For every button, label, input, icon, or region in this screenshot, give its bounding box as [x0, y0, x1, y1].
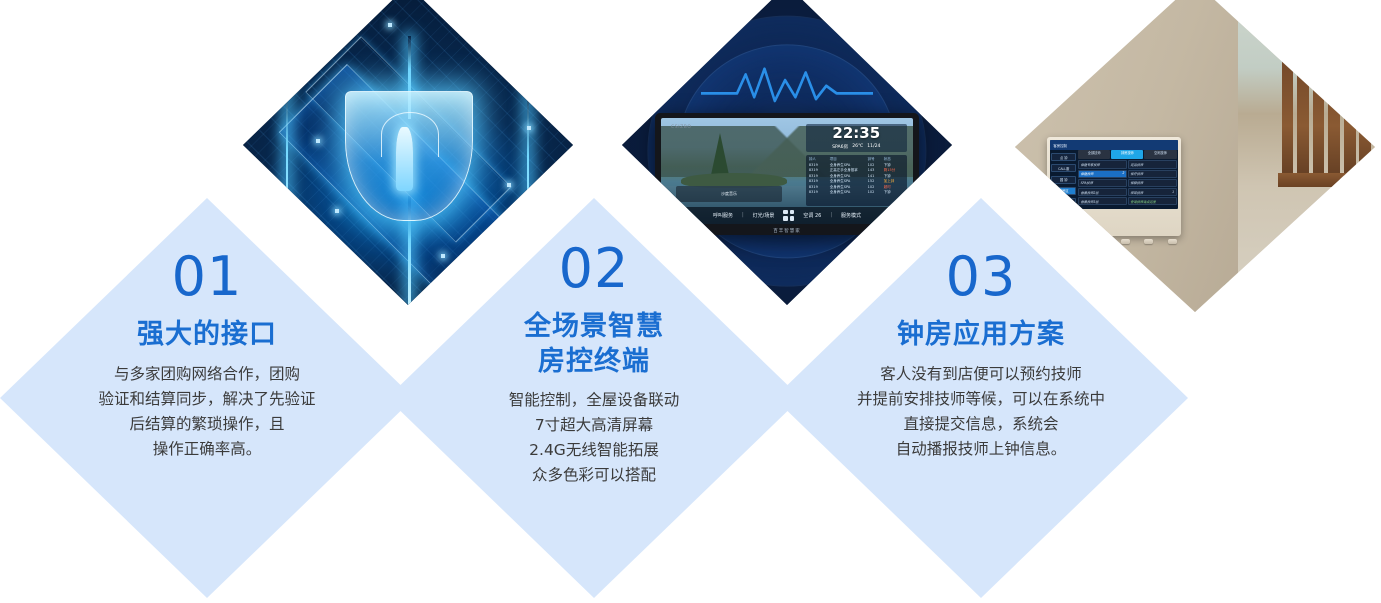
table-row[interactable]: 8319 全身养生SPA 102 下钟 — [809, 190, 904, 195]
clock-meta: SPA6房 26℃ 11/24 — [832, 144, 880, 150]
row-status: 下钟 — [884, 190, 904, 195]
panel-button[interactable] — [1051, 239, 1060, 244]
room-scene: 客房控制 点 钟 CALL服 圆 钟 钟房区 点 钟 全部技师 钟房技师 空闲技… — [1015, 0, 1375, 312]
clock-widget: 22:35 SPA6房 26℃ 11/24 — [806, 124, 907, 151]
panel-tab-active[interactable]: 钟房技师 — [1111, 150, 1143, 159]
shield-scene — [243, 0, 573, 305]
tablet-screen[interactable]: CSIZBO 22:35 SPA6房 26℃ 11/24 钟人 项目 — [661, 118, 913, 224]
panel-row[interactable]: 足浴技师 — [1128, 160, 1177, 168]
panel-row-label: 修疗技师 — [1130, 171, 1143, 176]
service-list-header: 钟人 项目 钟号 状态 — [809, 157, 904, 162]
feature-card-01[interactable]: 01 强大的接口 与多家团购网络合作，团购 验证和结算同步，解决了先验证 后结算… — [0, 198, 414, 598]
card-01-number: 01 — [46, 250, 368, 304]
panel-row[interactable]: 香熏技师3层 — [1078, 197, 1127, 205]
panel-row[interactable]: 采耳技师1 — [1128, 188, 1177, 196]
panel-hardware-buttons[interactable] — [1051, 239, 1176, 244]
panel-tab[interactable]: 全部技师 — [1078, 150, 1110, 159]
card-03-desc-line-3: 直接提交信息，系统会 — [820, 412, 1142, 437]
card-02-desc-line-3: 2.4G无线智能拓展 — [433, 438, 755, 463]
card-01-image-shield-hologram — [243, 0, 573, 305]
wall-control-panel[interactable]: 客房控制 点 钟 CALL服 圆 钟 钟房区 点 钟 全部技师 钟房技师 空闲技… — [1047, 137, 1180, 236]
card-02-desc-line-1: 智能控制，全屋设备联动 — [433, 388, 755, 413]
panel-key[interactable]: 点 钟 — [1051, 153, 1076, 161]
wood-post — [1344, 35, 1356, 187]
card-01-desc-line-4: 操作正确率高。 — [46, 437, 368, 462]
row-person: 8319 — [809, 190, 830, 195]
card-01-content: 01 强大的接口 与多家团购网络合作，团购 验证和结算同步，解决了先验证 后结算… — [0, 250, 414, 462]
panel-button[interactable] — [1121, 239, 1130, 244]
panel-row-query[interactable]: 查询技师请点这里 — [1128, 197, 1177, 205]
card-01-title-line-1: 强大的接口 — [46, 318, 368, 353]
panel-row-label: 香熏技师3层 — [1081, 199, 1099, 204]
panel-button[interactable] — [1168, 239, 1177, 244]
media-label: 沙度音乐 — [721, 191, 737, 197]
card-03-image-room-panel-photo: 客房控制 点 钟 CALL服 圆 钟 钟房区 点 钟 全部技师 钟房技师 空闲技… — [1015, 0, 1375, 312]
panel-tab[interactable]: 空闲技师 — [1144, 150, 1176, 159]
card-03-number: 03 — [820, 250, 1142, 304]
panel-row[interactable]: SPA技师 — [1078, 179, 1127, 187]
card-02-content: 02 全场景智慧 房控终端 智能控制，全屋设备联动 7寸超大高清屏幕 2.4G无… — [387, 242, 801, 489]
panel-key-active[interactable]: 钟房区 — [1051, 187, 1076, 195]
apps-grid-icon[interactable] — [783, 210, 794, 221]
card-02-description: 智能控制，全屋设备联动 7寸超大高清屏幕 2.4G无线智能拓展 众多色彩可以搭配 — [433, 388, 755, 488]
temperature-value: 26℃ — [852, 144, 863, 149]
card-03-title: 钟房应用方案 — [820, 318, 1142, 353]
plant-group — [1222, 154, 1334, 306]
panel-screen[interactable]: 客房控制 点 钟 CALL服 圆 钟 钟房区 点 钟 全部技师 钟房技师 空闲技… — [1050, 140, 1177, 209]
panel-key[interactable]: CALL服 — [1051, 164, 1076, 172]
media-player-bar[interactable]: 沙度音乐 — [676, 186, 782, 203]
dock-item-call-service[interactable]: 呼叫服务 — [713, 212, 733, 219]
wood-post — [1359, 35, 1371, 187]
dock-item-lighting[interactable]: 灯光/场景 — [753, 212, 775, 219]
card-02-image-control-tablet: CSIZBO 22:35 SPA6房 26℃ 11/24 钟人 项目 — [622, 0, 952, 305]
panel-button[interactable] — [1144, 239, 1153, 244]
panel-row-label: 修脚技师 — [1130, 180, 1143, 185]
tablet-brand-label: CSIZBO — [671, 125, 692, 130]
card-01-description: 与多家团购网络合作，团购 验证和结算同步，解决了先验证 后结算的繁琐操作，且 操… — [46, 362, 368, 462]
panel-left-keys[interactable]: 点 钟 CALL服 圆 钟 钟房区 点 钟 — [1050, 150, 1077, 209]
col-header-person: 钟人 — [809, 157, 830, 162]
card-03-content: 03 钟房应用方案 客人没有到店便可以预约技师 并提前安排技师等候，可以在系统中… — [774, 250, 1188, 462]
leaf — [1290, 278, 1314, 308]
card-01-desc-line-3: 后结算的繁琐操作，且 — [46, 412, 368, 437]
clock-time: 22:35 — [832, 126, 880, 141]
service-list-widget[interactable]: 钟人 项目 钟号 状态 8319 全身养生SPA 102 下钟 8319 — [806, 155, 907, 206]
card-03-desc-line-2: 并提前安排技师等候，可以在系统中 — [820, 387, 1142, 412]
card-03-description: 客人没有到店便可以预约技师 并提前安排技师等候，可以在系统中 直接提交信息，系统… — [820, 362, 1142, 462]
card-01-title: 强大的接口 — [46, 318, 368, 353]
card-02-title: 全场景智慧 房控终端 — [433, 310, 755, 379]
card-02-desc-line-2: 7寸超大高清屏幕 — [433, 413, 755, 438]
panel-row[interactable]: 香熏技师2层 — [1078, 188, 1127, 196]
panel-title: 客房控制 — [1050, 140, 1177, 150]
card-02-desc-line-4: 众多色彩可以搭配 — [433, 463, 755, 488]
card-03-title-line-1: 钟房应用方案 — [820, 318, 1142, 353]
panel-row-label: SPA技师 — [1081, 180, 1093, 185]
panel-row-label: 查询技师请点这里 — [1130, 199, 1156, 204]
panel-row[interactable]: 修疗技师 — [1128, 170, 1177, 178]
card-02-title-line-1: 全场景智慧 — [433, 310, 755, 345]
card-03-desc-line-1: 客人没有到店便可以预约技师 — [820, 362, 1142, 387]
panel-columns: 保健专家技师 保健技师2 SPA技师 香熏技师2层 香熏技师3层 足浴技师 修疗… — [1077, 159, 1177, 209]
leaf — [1258, 275, 1275, 306]
panel-row-value: 1 — [1172, 190, 1174, 195]
panel-row-label: 足浴技师 — [1130, 162, 1143, 167]
col-header-number: 钟号 — [868, 157, 884, 162]
dock-divider-2: | — [830, 212, 832, 218]
date-value: 11/24 — [867, 144, 880, 149]
dock-item-aircon[interactable]: 空调 26 — [803, 212, 821, 219]
dock-item-service-mode[interactable]: 服务模式 — [841, 212, 861, 219]
heartbeat-pulse-icon — [701, 65, 873, 107]
panel-row-selected[interactable]: 保健技师2 — [1078, 170, 1127, 178]
panel-key[interactable]: 圆 钟 — [1051, 176, 1076, 184]
panel-key[interactable]: 点 钟 — [1051, 198, 1076, 206]
panel-row[interactable]: 保健专家技师 — [1078, 160, 1127, 168]
tablet-dock[interactable]: 呼叫服务 | 灯光/场景 空调 26 | 服务模式 — [661, 207, 913, 224]
row-item: 全身养生SPA — [830, 190, 868, 195]
card-01-desc-line-2: 验证和结算同步，解决了先验证 — [46, 387, 368, 412]
leaf — [1302, 275, 1332, 300]
leaf — [1237, 280, 1263, 309]
panel-column-right: 足浴技师 修疗技师 修脚技师 采耳技师1 查询技师请点这里 — [1128, 160, 1177, 208]
tablet-device: CSIZBO 22:35 SPA6房 26℃ 11/24 钟人 项目 — [655, 113, 919, 235]
data-particles — [243, 0, 573, 305]
panel-button[interactable] — [1075, 239, 1084, 244]
col-header-status: 状态 — [884, 157, 904, 162]
panel-button[interactable] — [1098, 239, 1107, 244]
panel-row-value: 2 — [1122, 171, 1124, 176]
panel-row-label: 采耳技师 — [1130, 190, 1143, 195]
panel-row-label: 香熏技师2层 — [1081, 190, 1099, 195]
tree-graphic — [711, 133, 729, 175]
col-header-item: 项目 — [830, 157, 868, 162]
panel-row-label: 保健技师 — [1081, 171, 1094, 176]
panel-row-label: 保健专家技师 — [1081, 162, 1100, 167]
panel-tabs[interactable]: 全部技师 钟房技师 空闲技师 — [1077, 150, 1177, 159]
wood-rail-top — [1278, 44, 1375, 58]
tablet-scene: CSIZBO 22:35 SPA6房 26℃ 11/24 钟人 项目 — [622, 0, 952, 305]
dock-divider-1: | — [742, 212, 744, 218]
tablet-brand-text: 百丰智慧家 — [655, 228, 919, 234]
card-01-desc-line-1: 与多家团购网络合作，团购 — [46, 362, 368, 387]
panel-column-left: 保健专家技师 保健技师2 SPA技师 香熏技师2层 香熏技师3层 — [1078, 160, 1127, 208]
leaf — [1278, 275, 1291, 306]
card-02-title-line-2: 房控终端 — [433, 345, 755, 380]
card-02-number: 02 — [433, 242, 755, 296]
card-03-desc-line-4: 自动播报技师上钟信息。 — [820, 437, 1142, 462]
row-number: 102 — [868, 190, 884, 195]
room-label: SPA6房 — [832, 144, 848, 150]
feature-card-03[interactable]: 03 钟房应用方案 客人没有到店便可以预约技师 并提前安排技师等候，可以在系统中… — [774, 198, 1188, 598]
panel-row[interactable]: 修脚技师 — [1128, 179, 1177, 187]
promo-banner: 01 强大的接口 与多家团购网络合作，团购 验证和结算同步，解决了先验证 后结算… — [0, 0, 1381, 603]
